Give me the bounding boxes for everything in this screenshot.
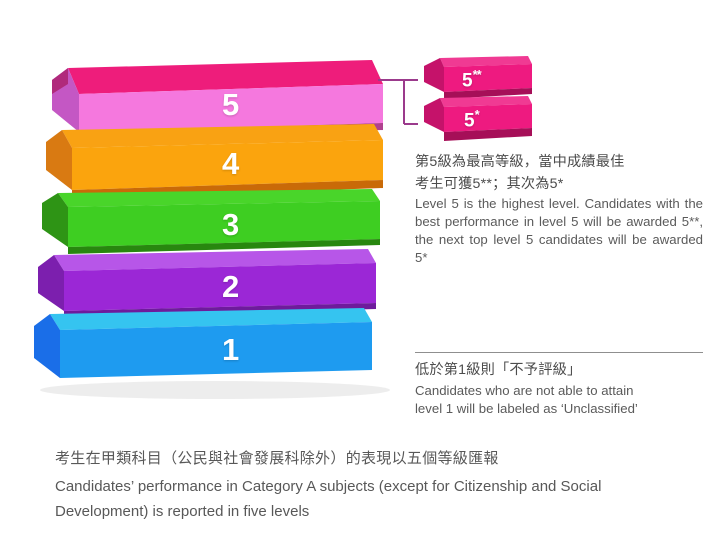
five-double-star-side-face bbox=[424, 58, 444, 92]
level-block-1: 1 bbox=[0, 306, 400, 406]
level-1-front-face bbox=[60, 322, 372, 378]
level-5-note-zh-line1: 第5級為最高等級，當中成績最佳 bbox=[415, 152, 703, 173]
star-grade-blocks: 5** 5* bbox=[418, 52, 548, 152]
five-double-star-front-face bbox=[444, 64, 532, 92]
unclassified-note-en-line1: Candidates who are not able to attain bbox=[415, 382, 703, 400]
five-star-block: 5* bbox=[418, 92, 538, 148]
bracket-path bbox=[378, 80, 418, 124]
unclassified-note-en-line2: level 1 will be labeled as ‘Unclassified… bbox=[415, 400, 703, 418]
level-5-note-zh-line2: 考生可獲5**；其次為5* bbox=[415, 174, 703, 195]
level-3-front-face bbox=[68, 201, 380, 247]
infographic-root: 5 4 3 bbox=[0, 0, 718, 541]
unclassified-note: 低於第1級則「不予評級」 Candidates who are not able… bbox=[415, 360, 703, 418]
stack-ground-shadow bbox=[40, 381, 390, 399]
five-star-side-face bbox=[424, 98, 444, 132]
level-5-note-en: Level 5 is the highest level. Candidates… bbox=[415, 195, 703, 267]
figure-caption: 考生在甲類科目（公民與社會發展科除外）的表現以五個等級匯報 Candidates… bbox=[55, 447, 675, 524]
note-divider bbox=[415, 352, 703, 353]
level-stack: 5 4 3 bbox=[0, 0, 420, 400]
unclassified-note-zh: 低於第1級則「不予評級」 bbox=[415, 360, 703, 381]
caption-en-line2: Development) is reported in five levels bbox=[55, 500, 675, 524]
level-5-note: 第5級為最高等級，當中成績最佳 考生可獲5**；其次為5* Level 5 is… bbox=[415, 152, 703, 267]
level-2-front-face bbox=[64, 263, 376, 311]
five-star-front-face bbox=[444, 104, 532, 132]
caption-zh: 考生在甲類科目（公民與社會發展科除外）的表現以五個等級匯報 bbox=[55, 447, 675, 470]
caption-en-line1: Candidates’ performance in Category A su… bbox=[55, 475, 675, 499]
